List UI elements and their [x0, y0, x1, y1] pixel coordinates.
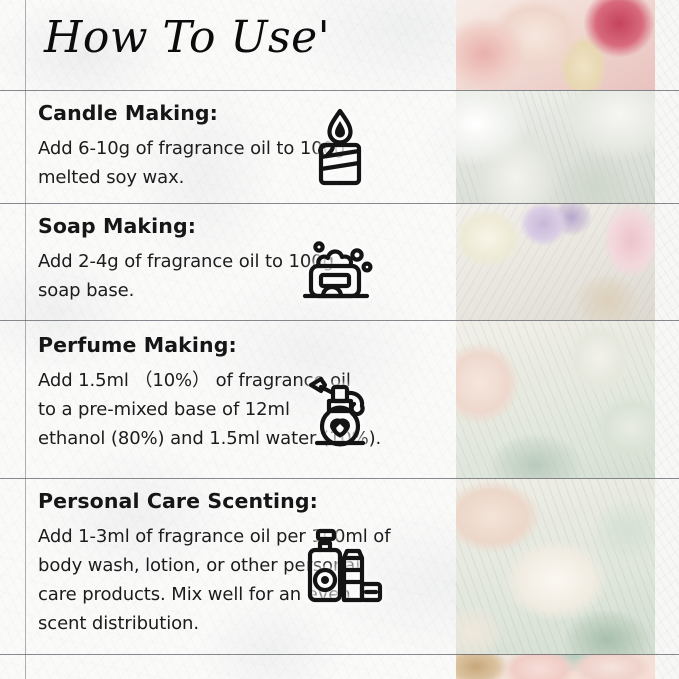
page-title: How To Use' [44, 12, 330, 63]
divider-after-candle [0, 203, 679, 204]
divider-after-personal-care [0, 654, 679, 655]
section-heading: Personal Care Scenting: [38, 489, 448, 513]
divider-after-soap [0, 320, 679, 321]
soap-bar-icon [0, 222, 679, 316]
candle-icon [0, 103, 679, 190]
how-to-use-infographic: How To Use' Candle Making: Add 6-10g of … [0, 0, 679, 679]
illustration-rose-scissors [456, 0, 655, 90]
divider-after-title [0, 90, 679, 91]
personal-care-products-icon [0, 515, 679, 615]
section-heading: Perfume Making: [38, 333, 448, 357]
perfume-bottle-icon [0, 355, 679, 455]
illustration-desk-strip [456, 654, 655, 679]
divider-after-perfume [0, 478, 679, 479]
